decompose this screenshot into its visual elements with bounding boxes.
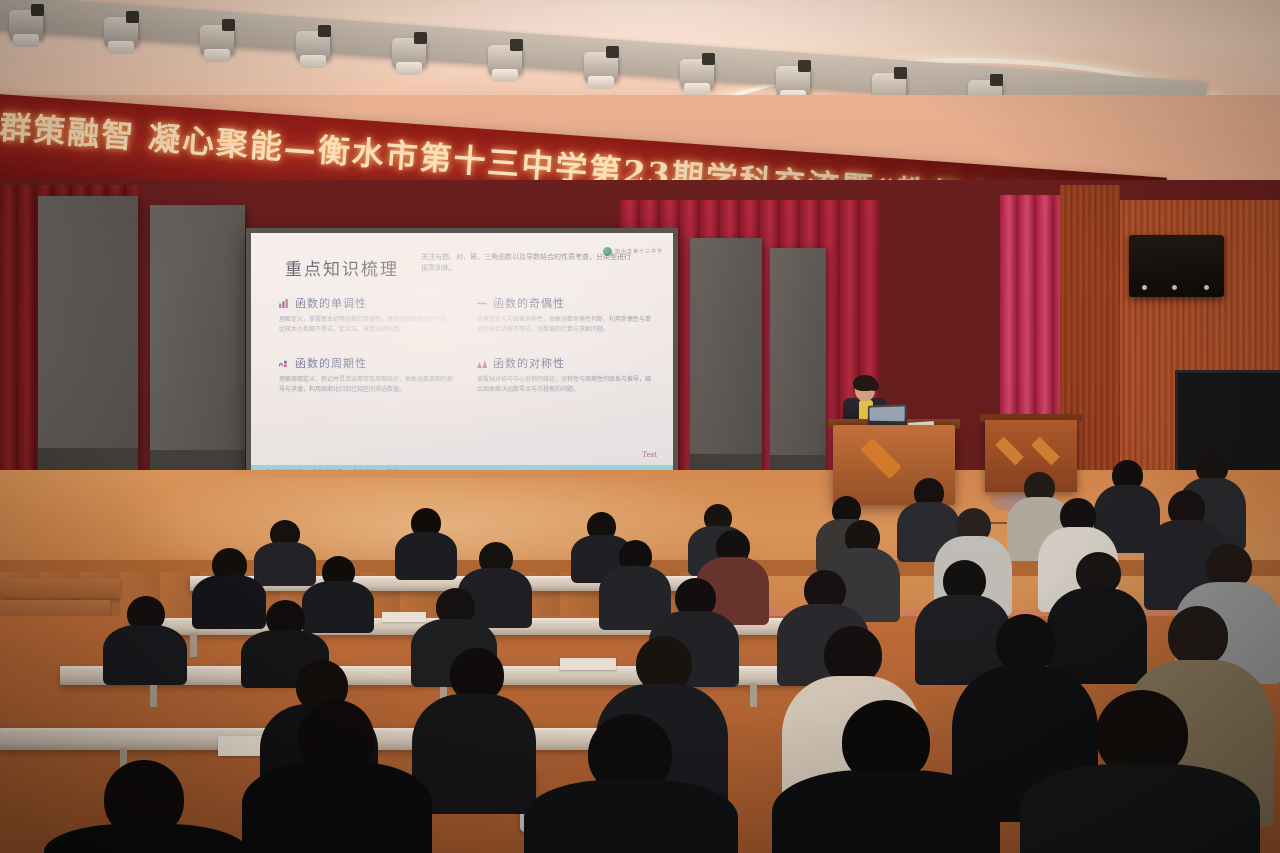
audience-member	[1040, 690, 1240, 853]
section-title: 函数的单调性	[295, 295, 367, 311]
audience-member	[108, 596, 182, 682]
slide-section: 函数的奇偶性 奇偶性定义与图象对称性，抽象函数奇偶性判断，利用奇偶性与单调性结合…	[477, 295, 655, 335]
stage-light-icon	[292, 31, 336, 73]
section-body: 理解定义，掌握基本初等函数的单调性，复合函数的单调性判断，比较大小及解不等式，定…	[279, 316, 457, 335]
section-title: 函数的奇偶性	[493, 295, 565, 311]
section-body: 奇偶性定义与图象对称性，抽象函数奇偶性判断，利用奇偶性与单调性结合求解不等式，函…	[477, 316, 655, 335]
section-heading-row: 函数的周期性	[279, 355, 457, 371]
minus-icon	[477, 299, 488, 308]
audience-member	[60, 760, 230, 853]
slide-school-logo: 衡水市第十三中学	[603, 247, 663, 256]
slide-watermark: Test	[642, 451, 657, 459]
slide-lead-text: 关注与指、对、幂、三角函数以及导数结合的性质考查，分类型进行拔高训练。	[421, 253, 636, 275]
section-heading-row: 函数的单调性	[279, 295, 457, 311]
stage-light-icon	[5, 10, 49, 52]
slide-sections: 函数的单调性 理解定义，掌握基本初等函数的单调性，复合函数的单调性判断，比较大小…	[279, 295, 655, 395]
acoustic-panel	[690, 238, 762, 486]
slide-logo-text: 衡水市第十三中学	[615, 248, 663, 255]
auditorium-photo: 群策融智 凝心聚能—衡水市第十三中学第23期学科交流暨“教师大讲堂” 重点知识梳…	[0, 0, 1280, 853]
audience-member	[420, 648, 530, 810]
audience-member	[398, 508, 454, 576]
speaker-led-dots	[1142, 285, 1212, 290]
logo-mark-icon	[603, 247, 612, 256]
stage-light-icon	[580, 52, 624, 94]
slide-title: 重点知识梳理	[285, 255, 399, 280]
projection-screen-frame: 重点知识梳理 关注与指、对、幂、三角函数以及导数结合的性质考查，分类型进行拔高训…	[246, 228, 678, 490]
audience-member	[790, 700, 980, 853]
wave-icon	[279, 359, 290, 368]
section-heading-row: 函数的奇偶性	[477, 295, 655, 311]
stage-step	[0, 578, 120, 598]
slide-section: 函数的周期性 理解周期定义，熟记并灵活运用常见周期结论，抽象函数周期的推导与求值…	[279, 355, 457, 395]
section-body: 掌握轴对称与中心对称的结论，对称性与周期性的联系与推导，结合图象解决函数零点与方…	[477, 376, 655, 395]
audience-member	[256, 700, 416, 853]
section-heading-row: 函数的对称性	[477, 355, 655, 371]
stage-light-icon	[100, 17, 144, 59]
slide-section: 函数的单调性 理解定义，掌握基本初等函数的单调性，复合函数的单调性判断，比较大小…	[279, 295, 457, 335]
section-body: 理解周期定义，熟记并灵活运用常见周期结论，抽象函数周期的推导与求值，利用周期化归…	[279, 376, 457, 395]
slide-section: 函数的对称性 掌握轴对称与中心对称的结论，对称性与周期性的联系与推导，结合图象解…	[477, 355, 655, 395]
projection-screen: 重点知识梳理 关注与指、对、幂、三角函数以及导数结合的性质考查，分类型进行拔高训…	[251, 233, 673, 485]
triangles-icon	[477, 359, 488, 368]
stage-light-icon	[388, 38, 432, 80]
acoustic-panel	[770, 248, 826, 486]
bars-icon	[279, 299, 290, 308]
acoustic-panel	[38, 196, 138, 486]
section-title: 函数的周期性	[295, 355, 367, 371]
acoustic-panel	[150, 205, 245, 487]
stage-light-icon	[484, 45, 528, 87]
stage-light-icon	[196, 25, 240, 67]
section-title: 函数的对称性	[493, 355, 565, 371]
audience-member	[540, 714, 720, 853]
